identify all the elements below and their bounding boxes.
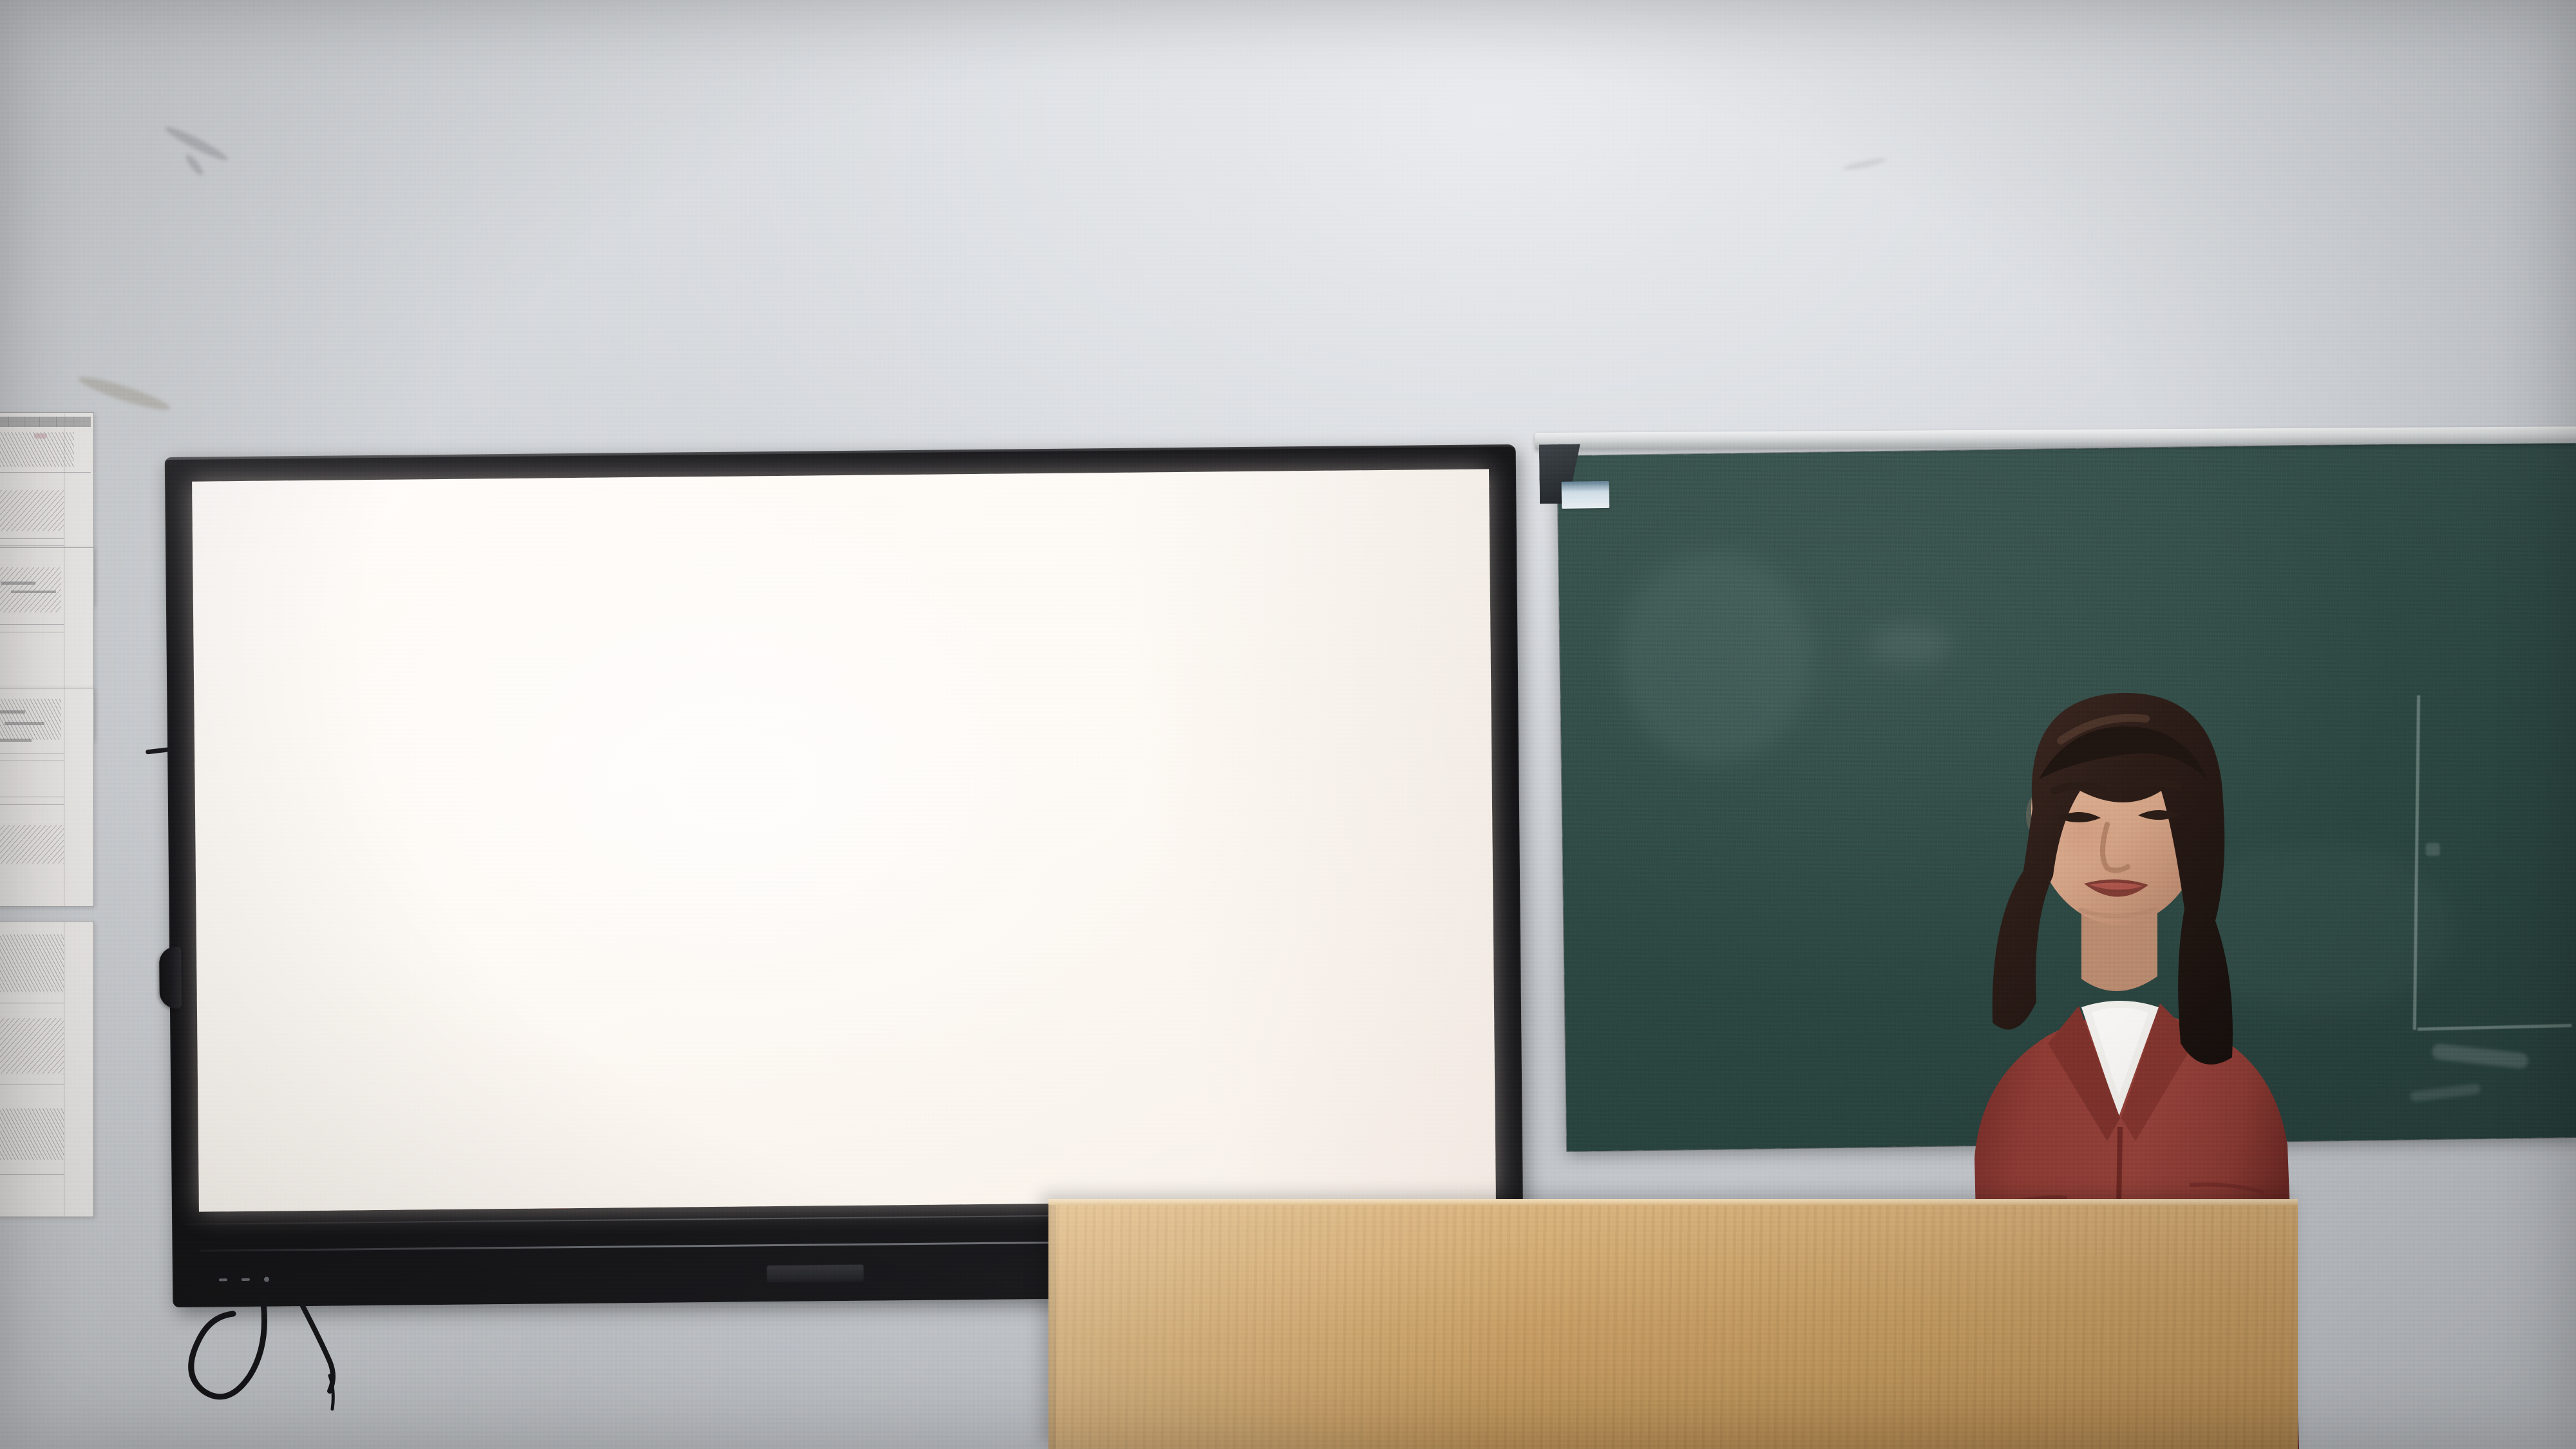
power-cable xyxy=(137,1294,343,1449)
display-side-sensor[interactable] xyxy=(159,947,182,1009)
classroom-scene: 深学细悟砺初心 担当尽责谋发展 牢记“三个务必” 做到“六个坚持” 测绘与规划学… xyxy=(0,0,2576,1449)
podium xyxy=(1048,1199,2298,1449)
wall-drawing-sheet xyxy=(0,688,94,907)
slide-title: 深学细悟砺初心 担当尽责谋发展 xyxy=(193,598,1491,678)
podium-light-sheen xyxy=(1048,1199,2298,1449)
interactive-flat-panel[interactable]: 深学细悟砺初心 担当尽责谋发展 牢记“三个务必” 做到“六个坚持” 测绘与规划学… xyxy=(165,444,1524,1307)
display-screen[interactable]: 深学细悟砺初心 担当尽责谋发展 牢记“三个务必” 做到“六个坚持” 测绘与规划学… xyxy=(192,469,1496,1211)
presentation-slide: 深学细悟砺初心 担当尽责谋发展 牢记“三个务必” 做到“六个坚持” 测绘与规划学… xyxy=(192,469,1496,1211)
wall-drawings-group xyxy=(0,412,97,1243)
slide-subtitle: 牢记“三个务必” 做到“六个坚持” xyxy=(194,698,1492,750)
display-indicator-lights[interactable] xyxy=(219,1277,269,1283)
chalkboard-label-sticker xyxy=(1562,481,1610,509)
wall-drawing-sheet xyxy=(0,921,94,1217)
display-brand-logo xyxy=(767,1265,864,1282)
